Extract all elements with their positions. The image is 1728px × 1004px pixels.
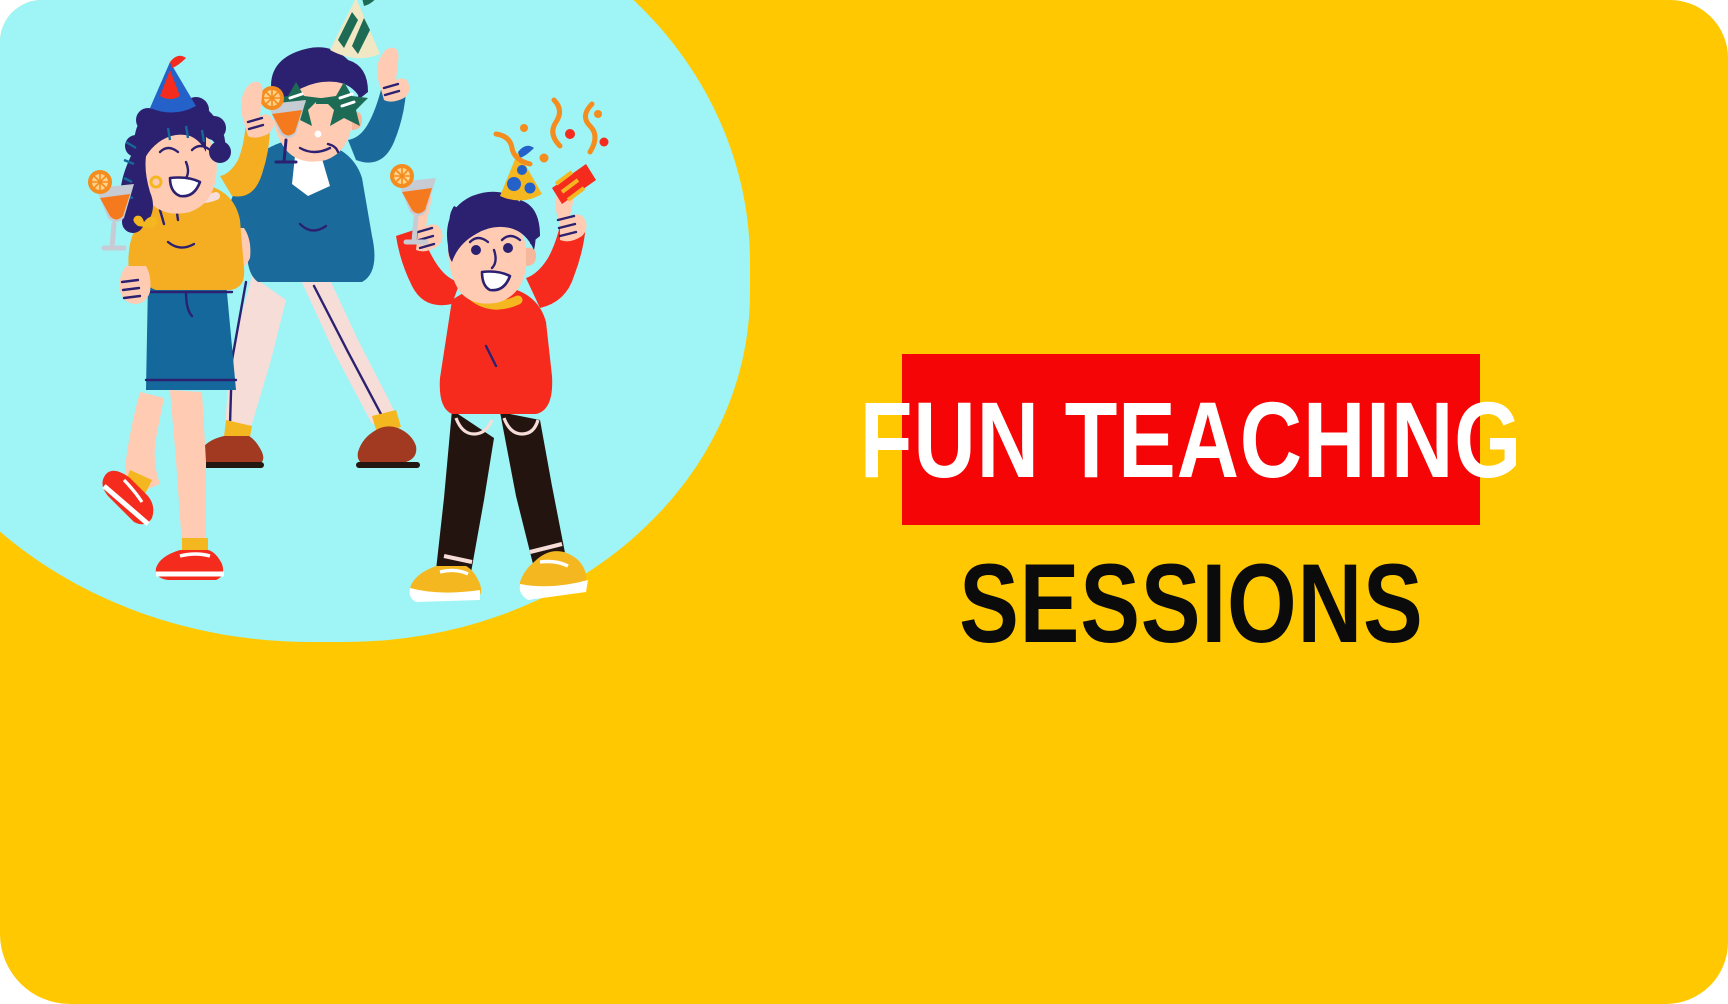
title-banner: FUN TEACHING [902, 354, 1480, 525]
headline-line-2: SESSIONS [959, 548, 1424, 660]
headline-line-1: FUN TEACHING [860, 386, 1522, 494]
headline-line-2-wrapper: SESSIONS [902, 525, 1480, 665]
promo-card: .sk{fill:#FFCBB3} .sk2{fill:#F7B79C} .hr… [0, 0, 1728, 1004]
headline-block: FUN TEACHING SESSIONS [902, 354, 1480, 665]
celebration-illustration: .sk{fill:#FFCBB3} .sk2{fill:#F7B79C} .hr… [0, 0, 760, 700]
figure-boy-right [390, 100, 609, 602]
